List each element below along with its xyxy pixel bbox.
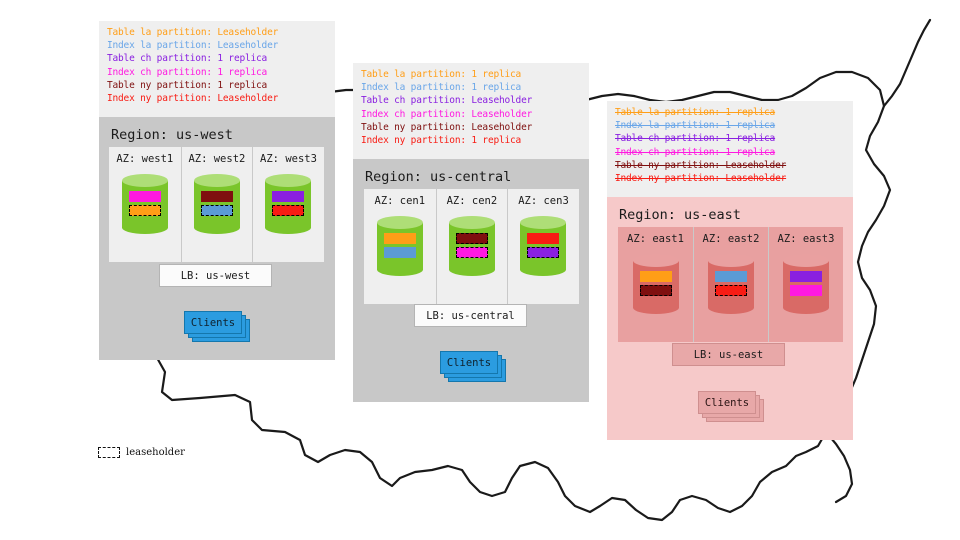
partition-replica-stack [122,191,168,216]
clients-stack-us-central[interactable]: Clients [440,351,510,385]
info-line-us-central-3: Index ch partition: Leaseholder [361,108,581,121]
az-column-west3: AZ: west3 [252,147,324,262]
partition-table-la-replica[interactable] [640,271,672,282]
cylinder-top-ellipse [449,216,495,229]
info-line-us-east-4: Table ny partition: Leaseholder [615,159,845,172]
partition-replica-stack [520,233,566,258]
partition-table-ch-replica[interactable] [272,191,304,202]
info-line-us-west-1: Index la partition: Leaseholder [107,39,327,52]
clients-card-us-central[interactable]: Clients [440,351,498,374]
database-node-east3[interactable] [783,254,829,314]
clients-stack-us-east[interactable]: Clients [698,391,768,425]
legend-label: leaseholder [126,447,185,458]
region-title-us-east: Region: us-east [607,197,853,223]
cylinder-top-ellipse [783,254,829,267]
lb-box-us-east[interactable]: LB: us-east [672,343,785,366]
az-strip-us-west: AZ: west1AZ: west2AZ: west3 [109,147,324,262]
info-line-us-west-0: Table la partition: Leaseholder [107,26,327,39]
info-line-us-east-2: Table ch partition: 1 replica [615,132,845,145]
cylinder-top-ellipse [194,174,240,187]
az-label-east2: AZ: east2 [703,233,760,245]
partition-table-ny-leaseholder[interactable] [456,233,488,244]
cylinder-top-ellipse [633,254,679,267]
partition-index-la-leaseholder[interactable] [201,205,233,216]
lb-box-us-central[interactable]: LB: us-central [414,304,527,327]
clients-stack-us-west[interactable]: Clients [184,311,254,345]
info-line-us-west-3: Index ch partition: 1 replica [107,66,327,79]
az-strip-us-east: AZ: east1AZ: east2AZ: east3 [618,227,843,342]
database-node-west1[interactable] [122,174,168,234]
az-strip-us-central: AZ: cen1AZ: cen2AZ: cen3 [364,189,579,304]
database-node-east2[interactable] [708,254,754,314]
info-line-us-central-0: Table la partition: 1 replica [361,68,581,81]
partition-replica-stack [633,271,679,296]
lb-box-us-west[interactable]: LB: us-west [159,264,272,287]
info-line-us-west-5: Index ny partition: Leaseholder [107,92,327,105]
partition-table-la-replica[interactable] [384,233,416,244]
database-node-west3[interactable] [265,174,311,234]
az-column-cen2: AZ: cen2 [436,189,508,304]
partition-table-ny-leaseholder[interactable] [640,285,672,296]
info-line-us-central-5: Index ny partition: 1 replica [361,134,581,147]
partition-index-ny-leaseholder[interactable] [272,205,304,216]
database-node-cen3[interactable] [520,216,566,276]
az-column-east2: AZ: east2 [693,227,768,342]
info-line-us-west-4: Table ny partition: 1 replica [107,79,327,92]
partition-replica-stack [377,233,423,258]
info-line-us-east-3: Index ch partition: 1 replica [615,146,845,159]
info-line-us-east-0: Table la partition: 1 replica [615,106,845,119]
az-label-cen3: AZ: cen3 [518,195,569,207]
diagram-canvas: Table la partition: LeaseholderIndex la … [0,0,960,540]
info-line-us-west-2: Table ch partition: 1 replica [107,52,327,65]
partition-table-ny-replica[interactable] [201,191,233,202]
partition-index-ny-replica[interactable] [527,233,559,244]
info-line-us-central-4: Table ny partition: Leaseholder [361,121,581,134]
partition-index-ny-leaseholder[interactable] [715,285,747,296]
info-box-us-central: Table la partition: 1 replicaIndex la pa… [353,63,589,159]
dashed-rectangle-leaseholder-swatch [98,447,120,458]
az-label-west1: AZ: west1 [116,153,173,165]
partition-replica-stack [449,233,495,258]
partition-replica-stack [783,271,829,296]
az-label-west2: AZ: west2 [188,153,245,165]
az-label-cen2: AZ: cen2 [447,195,498,207]
database-node-cen1[interactable] [377,216,423,276]
az-column-east3: AZ: east3 [768,227,843,342]
partition-index-ch-leaseholder[interactable] [456,247,488,258]
az-column-west2: AZ: west2 [181,147,253,262]
az-label-east1: AZ: east1 [627,233,684,245]
partition-index-ch-replica[interactable] [129,191,161,202]
partition-table-ch-replica[interactable] [790,271,822,282]
az-label-cen1: AZ: cen1 [375,195,426,207]
partition-table-la-leaseholder[interactable] [129,205,161,216]
info-box-us-east: Table la partition: 1 replicaIndex la pa… [607,101,853,197]
region-title-us-central: Region: us-central [353,159,589,185]
partition-replica-stack [265,191,311,216]
az-column-cen3: AZ: cen3 [507,189,579,304]
clients-card-us-west[interactable]: Clients [184,311,242,334]
az-column-east1: AZ: east1 [618,227,693,342]
partition-table-ch-leaseholder[interactable] [527,247,559,258]
az-label-east3: AZ: east3 [778,233,835,245]
info-line-us-east-5: Index ny partition: Leaseholder [615,172,845,185]
az-column-cen1: AZ: cen1 [364,189,436,304]
info-line-us-central-1: Index la partition: 1 replica [361,81,581,94]
az-label-west3: AZ: west3 [260,153,317,165]
info-line-us-central-2: Table ch partition: Leaseholder [361,94,581,107]
database-node-cen2[interactable] [449,216,495,276]
info-line-us-east-1: Index la partition: 1 replica [615,119,845,132]
database-node-west2[interactable] [194,174,240,234]
partition-replica-stack [708,271,754,296]
az-column-west1: AZ: west1 [109,147,181,262]
cylinder-top-ellipse [122,174,168,187]
info-box-us-west: Table la partition: LeaseholderIndex la … [99,21,335,117]
cylinder-top-ellipse [377,216,423,229]
database-node-east1[interactable] [633,254,679,314]
partition-index-la-replica[interactable] [715,271,747,282]
clients-card-us-east[interactable]: Clients [698,391,756,414]
legend: leaseholder [98,447,185,458]
partition-replica-stack [194,191,240,216]
partition-index-ch-replica[interactable] [790,285,822,296]
cylinder-top-ellipse [708,254,754,267]
region-title-us-west: Region: us-west [99,117,335,143]
partition-index-la-replica[interactable] [384,247,416,258]
